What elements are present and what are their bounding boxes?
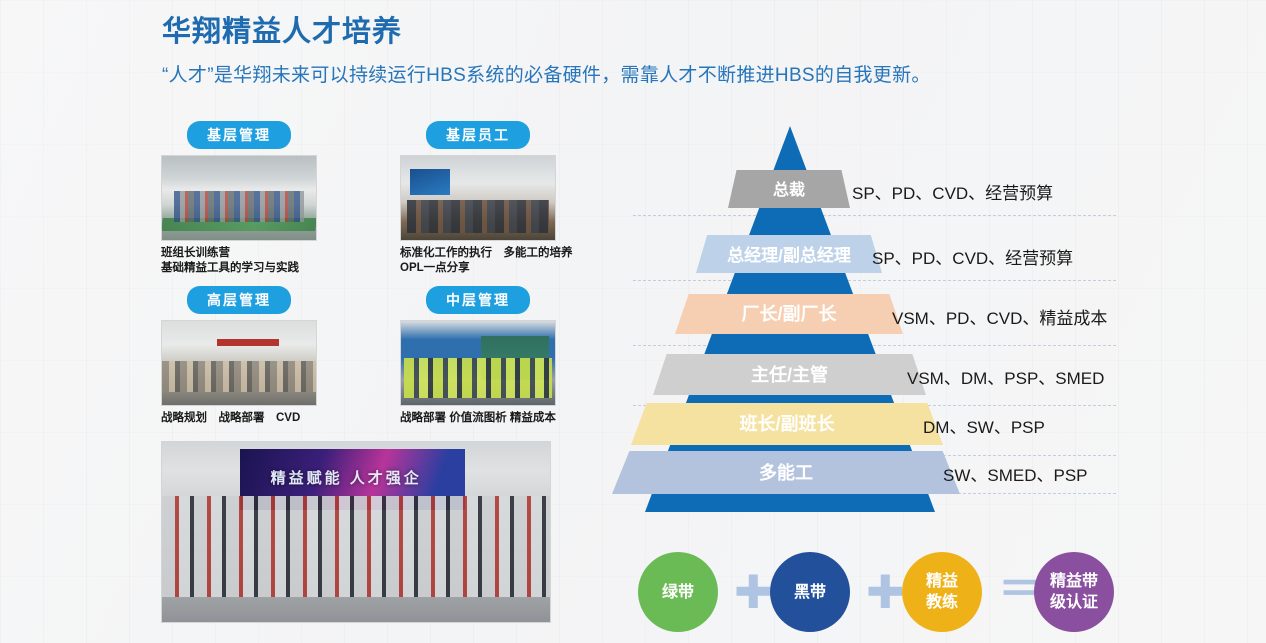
pill-wrap: 高层管理 — [161, 286, 317, 314]
photo-caption-line-1: 班组长训练营 — [161, 246, 317, 261]
photo-card-middle-management: 中层管理 战略部署 价值流图析 精益成本 — [400, 286, 556, 426]
badge-green-belt: 绿带 — [638, 552, 718, 632]
pyramid-band-label: 厂长/副厂长 — [741, 300, 836, 326]
page-subtitle: “人才”是华翔未来可以持续运行HBS系统的必备硬件，需靠人才不断推进HBS的自我… — [162, 60, 931, 87]
group-photo-banner-text: 精益赋能 人才强企 — [271, 467, 457, 496]
photo-card-pill-label: 基层管理 — [187, 121, 291, 149]
pill-wrap: 基层管理 — [161, 121, 317, 149]
pyramid-band-label: 多能工 — [759, 459, 813, 485]
group-photo: 精益赋能 人才强企 — [161, 441, 551, 623]
talent-pyramid: 总裁 SP、PD、CVD、经营预算 总经理/副总经理 SP、PD、CVD、经营预… — [620, 118, 1140, 518]
page-title: 华翔精益人才培养 — [162, 8, 402, 50]
badge-black-belt: 黑带 — [770, 552, 850, 632]
badge-label-line-2: 教练 — [926, 592, 958, 613]
pyramid-band-4: 主任/主管 — [653, 354, 926, 395]
photo-card-senior-management: 高层管理 战略规划 战略部署 CVD — [161, 286, 317, 426]
pill-wrap: 基层员工 — [400, 121, 556, 149]
pyramid-band-label: 总经理/副总经理 — [727, 241, 851, 266]
badge-label-line-1: 绿带 — [662, 582, 694, 603]
photo-caption-line-1: 战略规划 战略部署 CVD — [161, 411, 317, 426]
badge-label-line-1: 黑带 — [794, 582, 826, 603]
photo-caption-line-2: 基础精益工具的学习与实践 — [161, 261, 317, 276]
badge-label-line-2: 级认证 — [1050, 592, 1098, 613]
group-photo-card: 精益赋能 人才强企 — [161, 441, 551, 623]
pyramid-band-label: 主任/主管 — [751, 361, 828, 387]
plus-icon-1: ✚ — [734, 569, 773, 615]
photo-card-pill-label: 高层管理 — [187, 286, 291, 314]
pyramid-gridline — [633, 215, 1116, 216]
pyramid-tools-2: SP、PD、CVD、经营预算 — [872, 244, 1073, 269]
photo-card-pill-label: 基层员工 — [426, 121, 530, 149]
photo-caption-line-1: 战略部署 价值流图析 精益成本 — [400, 411, 556, 426]
pyramid-gridline — [633, 280, 1116, 281]
photo-card-pill-label: 中层管理 — [426, 286, 530, 314]
pill-wrap: 中层管理 — [400, 286, 556, 314]
pyramid-band-6: 多能工 — [612, 451, 960, 494]
pyramid-band-3: 厂长/副厂长 — [675, 294, 903, 334]
pyramid-tools-6: SW、SMED、PSP — [943, 461, 1088, 486]
pyramid-band-1: 总裁 — [728, 170, 850, 208]
photo-thumbnail — [400, 320, 556, 406]
photo-caption-line-1: 标准化工作的执行 多能工的培养 — [400, 246, 556, 261]
photo-thumbnail — [161, 320, 317, 406]
certification-formula: 绿带 ✚ 黑带 ✚ 精益 教练 ＝ 精益带 级认证 — [620, 548, 1140, 640]
photo-thumbnail — [161, 155, 317, 241]
photo-card-grassroots-staff: 基层员工 标准化工作的执行 多能工的培养 OPL一点分享 — [400, 121, 556, 276]
pyramid-tools-4: VSM、DM、PSP、SMED — [907, 364, 1104, 389]
plus-icon-2: ✚ — [866, 569, 905, 615]
pyramid-tools-3: VSM、PD、CVD、精益成本 — [892, 304, 1107, 329]
photo-caption-line-2: OPL一点分享 — [400, 261, 556, 276]
badge-lean-belt-certification: 精益带 级认证 — [1034, 552, 1114, 632]
pyramid-tools-5: DM、SW、PSP — [923, 413, 1045, 438]
photo-card-grassroots-management: 基层管理 班组长训练营 基础精益工具的学习与实践 — [161, 121, 317, 276]
pyramid-band-2: 总经理/副总经理 — [696, 235, 882, 273]
pyramid-tools-1: SP、PD、CVD、经营预算 — [852, 179, 1053, 204]
badge-lean-coach: 精益 教练 — [902, 552, 982, 632]
photo-thumbnail — [400, 155, 556, 241]
pyramid-band-5: 班长/副班长 — [631, 403, 943, 445]
pyramid-band-label: 总裁 — [773, 176, 805, 200]
badge-label-line-1: 精益带 — [1050, 571, 1098, 592]
pyramid-gridline — [633, 345, 1116, 346]
badge-label-line-1: 精益 — [926, 571, 958, 592]
pyramid-band-label: 班长/副班长 — [739, 410, 834, 436]
